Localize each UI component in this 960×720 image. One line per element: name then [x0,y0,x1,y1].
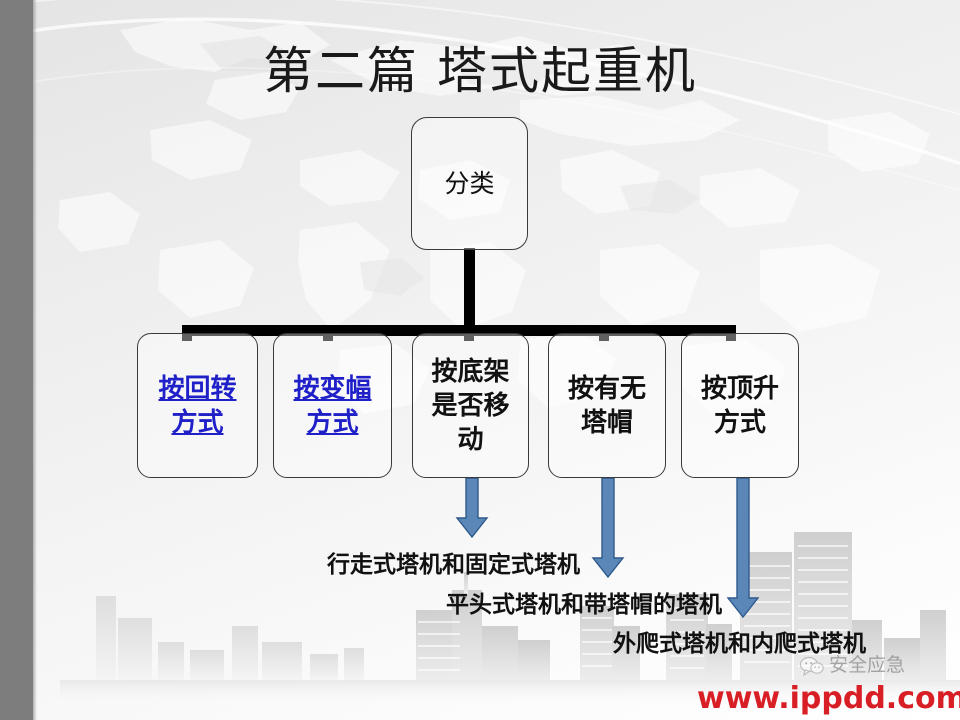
node-jacking-method[interactable]: 按顶升 方式 [681,333,799,478]
node-luffing-method-label: 按变幅 方式 [293,372,371,440]
node-tower-cap-label: 按有无 塔帽 [568,372,646,440]
node-root-label: 分类 [444,169,494,199]
slide-canvas: 第二篇 塔式起重机 分类 按回转 方式 按变幅 方式 按底架 是否移 动 按有无… [0,0,960,720]
caption-tower-cap: 平头式塔机和带塔帽的塔机 [446,591,722,619]
arrow-down-tower-cap-icon [591,478,625,578]
left-band-shadow [33,0,37,720]
node-chassis-mobility[interactable]: 按底架 是否移 动 [412,333,529,478]
connector-stem [464,248,475,332]
caption-chassis-mobility: 行走式塔机和固定式塔机 [327,551,580,579]
node-root[interactable]: 分类 [411,117,528,250]
node-luffing-method[interactable]: 按变幅 方式 [273,333,392,478]
left-gray-band [0,0,33,720]
arrow-down-chassis-icon [455,478,489,538]
node-tower-cap[interactable]: 按有无 塔帽 [548,333,666,478]
node-jacking-method-label: 按顶升 方式 [701,372,779,440]
node-chassis-mobility-label: 按底架 是否移 动 [431,355,509,457]
node-rotation-method[interactable]: 按回转 方式 [137,333,258,478]
arrow-down-jacking-icon [726,478,760,618]
wechat-bubble-icon [800,656,824,676]
node-rotation-method-label: 按回转 方式 [158,372,236,440]
wechat-account-name: 安全应急 [829,655,905,676]
wechat-account-badge: 安全应急 [800,655,905,676]
site-url-watermark: www.ippdd.com [697,683,960,715]
page-title: 第二篇 塔式起重机 [0,42,960,100]
